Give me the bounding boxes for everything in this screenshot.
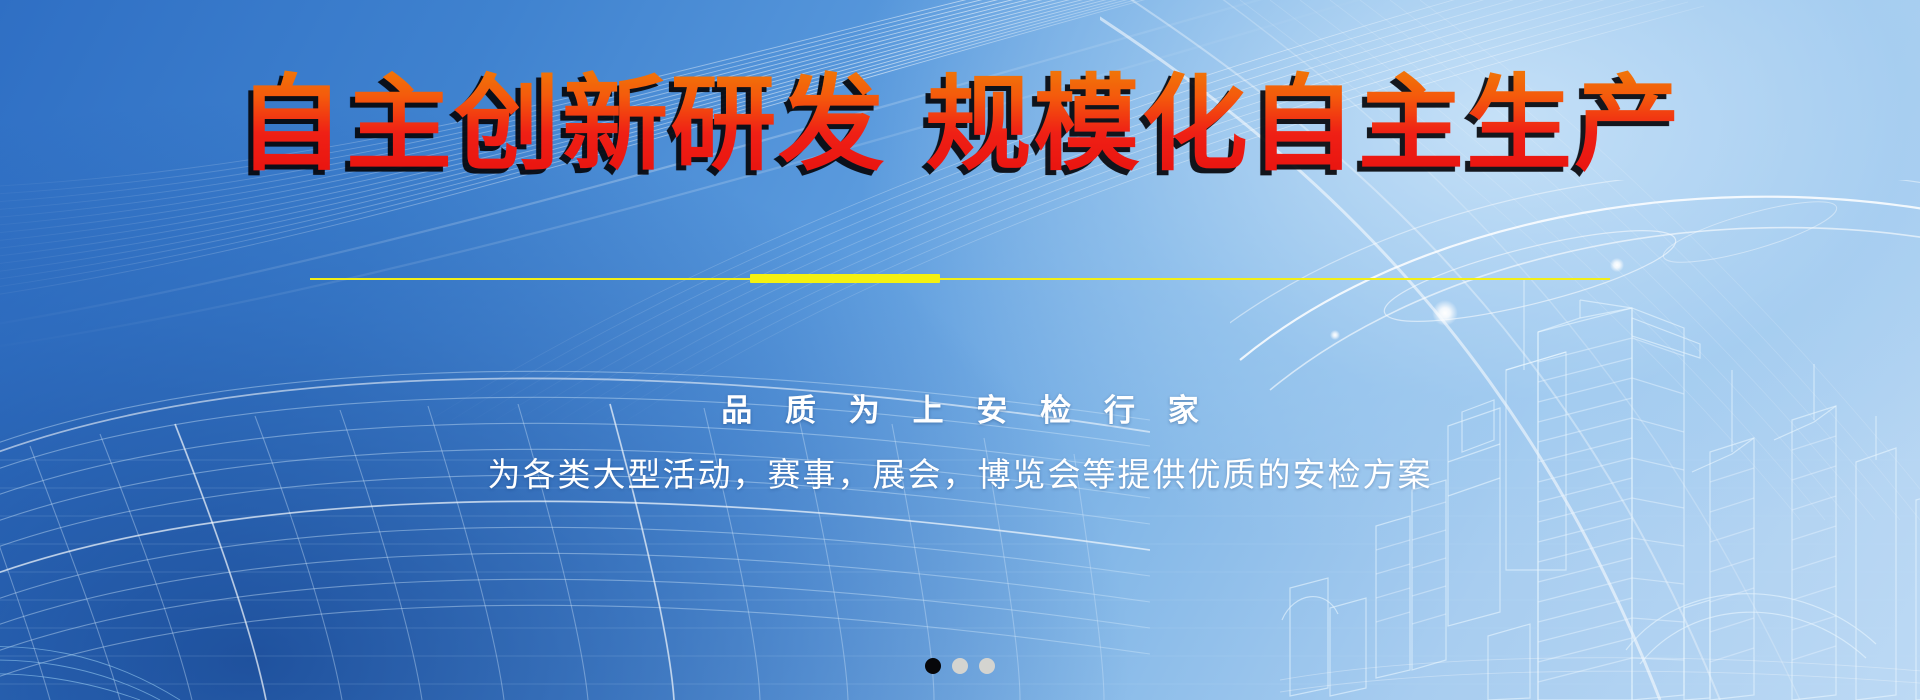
carousel-pagination[interactable] — [0, 658, 1920, 674]
yellow-divider — [310, 277, 1610, 280]
pagination-dot-1[interactable] — [925, 658, 941, 674]
hero-banner: 自主创新研发 规模化自主生产 品 质 为 上 安 检 行 家 为各类大型活动，赛… — [0, 0, 1920, 700]
pagination-dot-3[interactable] — [979, 658, 995, 674]
banner-content: 自主创新研发 规模化自主生产 品 质 为 上 安 检 行 家 为各类大型活动，赛… — [0, 0, 1920, 700]
divider-thick-segment — [750, 274, 940, 283]
banner-headline: 自主创新研发 规模化自主生产 — [0, 68, 1920, 180]
banner-subtitle-description: 为各类大型活动，赛事，展会，博览会等提供优质的安检方案 — [0, 448, 1920, 496]
pagination-dot-2[interactable] — [952, 658, 968, 674]
divider-thin-line — [310, 278, 1610, 280]
banner-subtitle-main: 品 质 为 上 安 检 行 家 — [0, 385, 1920, 430]
